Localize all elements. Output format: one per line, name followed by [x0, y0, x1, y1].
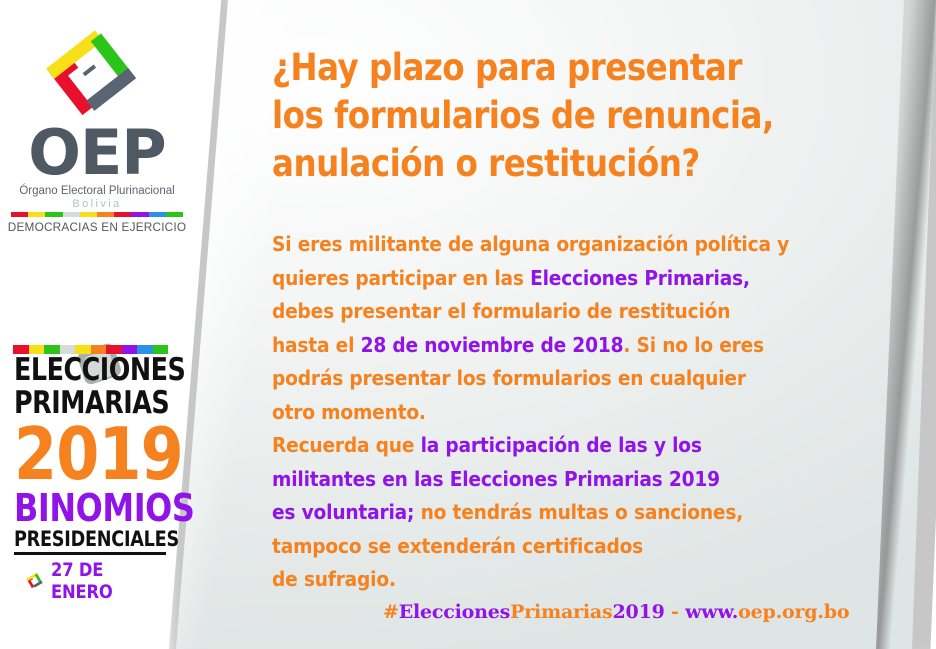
body-line-6: otro momento. — [272, 396, 849, 430]
body-line-1: Si eres militante de alguna organización… — [272, 228, 849, 262]
body-seg: otro momento. — [272, 400, 426, 424]
body-seg: Si eres militante de alguna organización… — [272, 232, 789, 256]
footer-word-year: 2019 — [613, 601, 665, 623]
body-line-2: quieres participar en las Elecciones Pri… — [272, 262, 849, 296]
body-seg-highlight: militantes en las Elecciones Primarias 2… — [272, 467, 720, 491]
footer-separator: - — [665, 601, 686, 623]
body-seg: debes presentar el formulario de restitu… — [272, 299, 730, 323]
poster-canvas: OEP Órgano Electoral Plurinacional Boliv… — [0, 0, 936, 649]
body-line-4: hasta el 28 de noviembre de 2018. Si no … — [272, 329, 849, 363]
footer-word-primarias: Primarias — [510, 601, 612, 623]
content-area: ¿Hay plazo para presentar los formulario… — [0, 0, 936, 649]
body-seg-highlight: la participación de las y los — [421, 433, 702, 457]
body-line-7: Recuerda que la participación de las y l… — [272, 429, 849, 463]
body-seg: . Si no lo eres — [623, 333, 764, 357]
headline: ¿Hay plazo para presentar los formulario… — [272, 44, 800, 188]
body-seg-highlight: es voluntaria; — [272, 500, 414, 524]
body-seg: podrás presentar los formularios en cual… — [272, 366, 746, 390]
body-seg: Recuerda que — [272, 433, 421, 457]
footer-url-www: www. — [685, 601, 738, 623]
body-line-5: podrás presentar los formularios en cual… — [272, 362, 849, 396]
body-seg: no tendrás multas o sanciones, — [414, 500, 743, 524]
body-seg: tampoco se extenderán certificados — [272, 534, 643, 558]
body-line-11: de sufragio. — [272, 563, 849, 597]
headline-line-1: ¿Hay plazo para presentar — [272, 44, 800, 92]
footer-word-elecciones: Elecciones — [399, 601, 510, 623]
footer-hash: # — [383, 601, 399, 623]
body-text: Si eres militante de alguna organización… — [272, 228, 849, 597]
body-line-10: tampoco se extenderán certificados — [272, 530, 849, 564]
body-seg: de sufragio. — [272, 567, 396, 591]
campaign-color-stripe — [13, 345, 168, 354]
body-line-3: debes presentar el formulario de restitu… — [272, 295, 849, 329]
body-line-9: es voluntaria; no tendrás multas o sanci… — [272, 496, 849, 530]
body-seg-highlight: Elecciones Primarias, — [530, 266, 750, 290]
body-line-8: militantes en las Elecciones Primarias 2… — [272, 463, 849, 497]
body-seg-highlight: 28 de noviembre de 2018 — [361, 333, 624, 357]
footer-hashtag-url[interactable]: #EleccionesPrimarias2019 - www.oep.org.b… — [383, 601, 849, 623]
body-seg: quieres participar en las — [272, 266, 530, 290]
headline-line-2: los formularios de renuncia, — [272, 92, 800, 140]
body-seg: hasta el — [272, 333, 361, 357]
footer-url-domain: oep.org.bo — [738, 601, 849, 623]
headline-line-3: anulación o restitución? — [272, 140, 800, 188]
